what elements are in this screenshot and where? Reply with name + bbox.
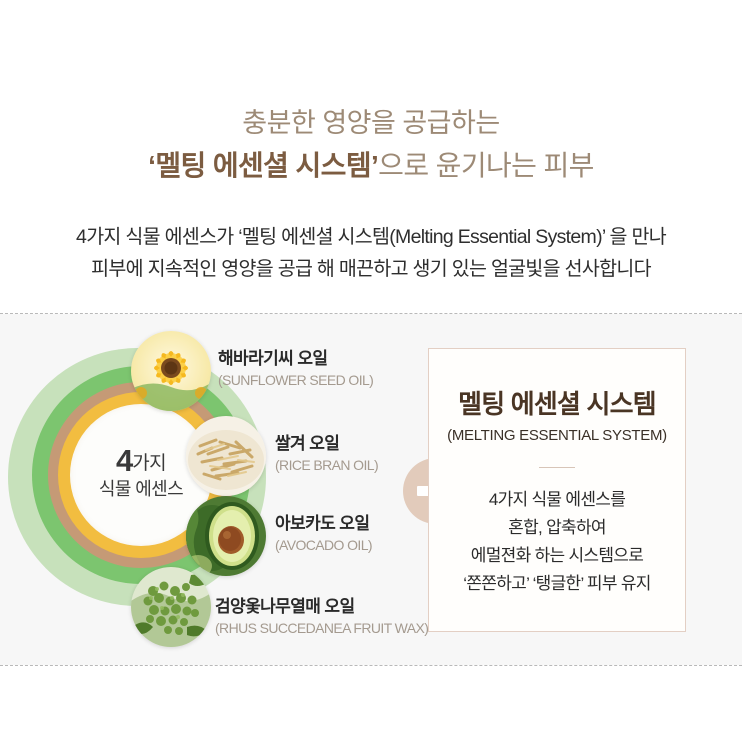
essence-core-line-2: 식물 에센스 xyxy=(99,477,183,501)
melting-essential-system-panel: 멜팅 에센셜 시스템 (MELTING ESSENTIAL SYSTEM) 4가… xyxy=(428,348,686,632)
system-divider-rule xyxy=(539,467,575,468)
system-title-en: (MELTING ESSENTIAL SYSTEM) xyxy=(429,426,685,446)
system-description-line: 에멀젼화 하는 시스템으로 xyxy=(429,542,685,570)
system-description-line: 4가지 식물 에센스를 xyxy=(429,486,685,514)
headline-emphasis: ‘멜팅 에센셜 시스템’ xyxy=(148,150,378,181)
headline-line-2-rest: 으로 윤기나는 피부 xyxy=(378,150,594,181)
infographic-page: 충분한 영양을 공급하는 ‘멜팅 에센셜 시스템’으로 윤기나는 피부 4가지 … xyxy=(0,0,742,742)
ingredient-name-ko: 쌀겨 오일 xyxy=(275,433,378,455)
rhus-berry-photo-icon xyxy=(131,567,211,647)
ingredient-name-ko: 검양옻나무열매 오일 xyxy=(215,596,428,618)
essence-count-number: 4 xyxy=(116,443,132,478)
divider-bottom xyxy=(0,665,742,666)
divider-top xyxy=(0,313,742,314)
ingredient-label-sunflower: 해바라기씨 오일 (SUNFLOWER SEED OIL) xyxy=(218,348,373,390)
ingredient-name-en: (SUNFLOWER SEED OIL) xyxy=(218,371,373,390)
headline-line-2: ‘멜팅 에센셜 시스템’으로 윤기나는 피부 xyxy=(0,148,742,184)
subhead-line-1: 4가지 식물 에센스가 ‘멜팅 에센셜 시스템(Melting Essentia… xyxy=(0,222,742,252)
system-description-line: ‘쫀쫀하고’ ‘탱글한’ 피부 유지 xyxy=(429,570,685,598)
header-text-block: 충분한 영양을 공급하는 ‘멜팅 에센셜 시스템’으로 윤기나는 피부 4가지 … xyxy=(0,0,742,313)
headline-line-1: 충분한 영양을 공급하는 xyxy=(0,106,742,140)
ingredient-label-avocado: 아보카도 오일 (AVOCADO OIL) xyxy=(275,513,372,555)
system-description-line: 혼합, 압축하여 xyxy=(429,514,685,542)
ingredient-name-en: (AVOCADO OIL) xyxy=(275,536,372,555)
essence-core-line-1: 4가지 xyxy=(116,449,166,476)
essence-count-unit: 가지 xyxy=(132,453,166,474)
ingredient-name-ko: 아보카도 오일 xyxy=(275,513,372,535)
ingredient-label-rice-bran: 쌀겨 오일 (RICE BRAN OIL) xyxy=(275,433,378,475)
system-title-ko: 멜팅 에센셜 시스템 xyxy=(429,388,685,420)
ingredient-name-ko: 해바라기씨 오일 xyxy=(218,348,373,370)
sunflower-photo-icon xyxy=(131,331,211,411)
ingredient-name-en: (RHUS SUCCEDANEA FRUIT WAX) xyxy=(215,619,428,638)
subhead-line-2: 피부에 지속적인 영양을 공급 해 매끈하고 생기 있는 얼굴빛을 선사합니다 xyxy=(0,254,742,284)
ingredient-label-rhus: 검양옻나무열매 오일 (RHUS SUCCEDANEA FRUIT WAX) xyxy=(215,596,428,638)
rice-bran-photo-icon xyxy=(186,416,266,496)
ingredient-name-en: (RICE BRAN OIL) xyxy=(275,456,378,475)
system-description: 4가지 식물 에센스를 혼합, 압축하여 에멀젼화 하는 시스템으로 ‘쫀쫀하고… xyxy=(429,486,685,598)
avocado-photo-icon xyxy=(186,496,266,576)
